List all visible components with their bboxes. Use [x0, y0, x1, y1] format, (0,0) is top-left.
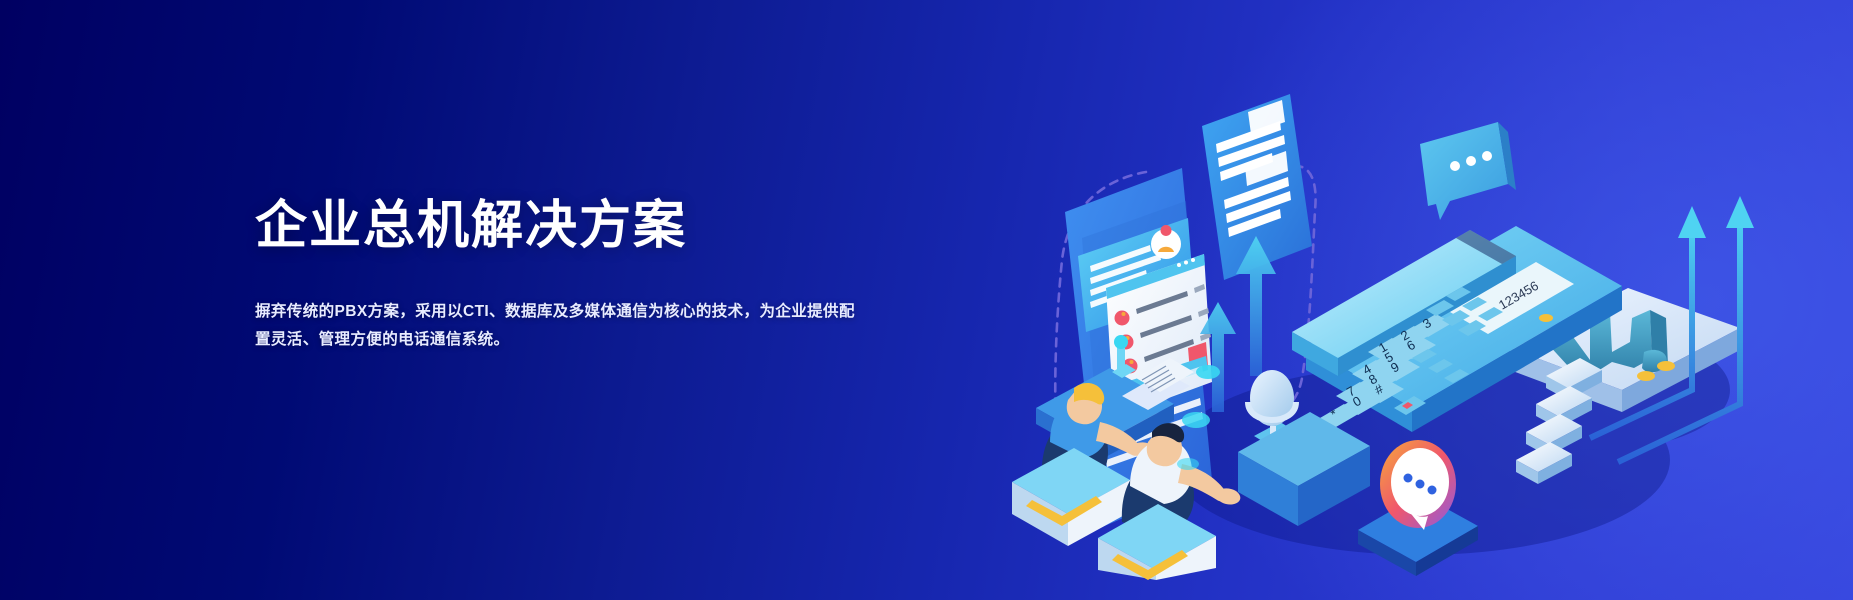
page-title: 企业总机解决方案 — [255, 196, 895, 256]
chat-bubble-dots — [1420, 122, 1516, 220]
hero-banner: 企业总机解决方案 摒弃传统的PBX方案，采用以CTI、数据库及多媒体通信为核心的… — [0, 0, 1853, 600]
hero-copy-block: 企业总机解决方案 摒弃传统的PBX方案，采用以CTI、数据库及多媒体通信为核心的… — [255, 196, 895, 354]
hero-illustration: 123456 1 2 3 — [950, 60, 1830, 580]
hero-description: 摒弃传统的PBX方案，采用以CTI、数据库及多媒体通信为核心的技术，为企业提供配… — [255, 298, 855, 354]
